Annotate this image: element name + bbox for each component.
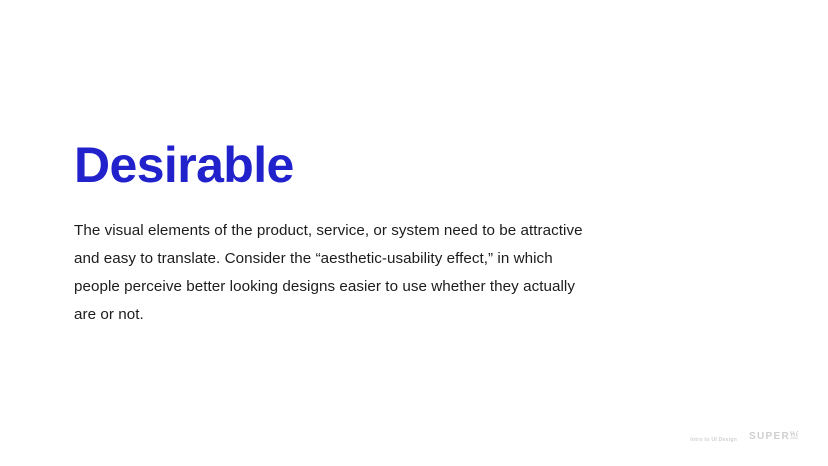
- superhi-hi-mark-icon: [790, 430, 802, 448]
- superhi-logo: SUPER: [749, 432, 802, 448]
- slide-footer: Intro to UI Design SUPER: [690, 432, 802, 448]
- slide-canvas: Desirable The visual elements of the pro…: [0, 0, 828, 466]
- footer-course-caption: Intro to UI Design: [690, 437, 737, 443]
- slide-body-text: The visual elements of the product, serv…: [74, 217, 599, 329]
- slide-content-block: Desirable The visual elements of the pro…: [74, 136, 634, 329]
- page-title: Desirable: [74, 136, 634, 194]
- brand-wordmark: SUPER: [749, 432, 790, 442]
